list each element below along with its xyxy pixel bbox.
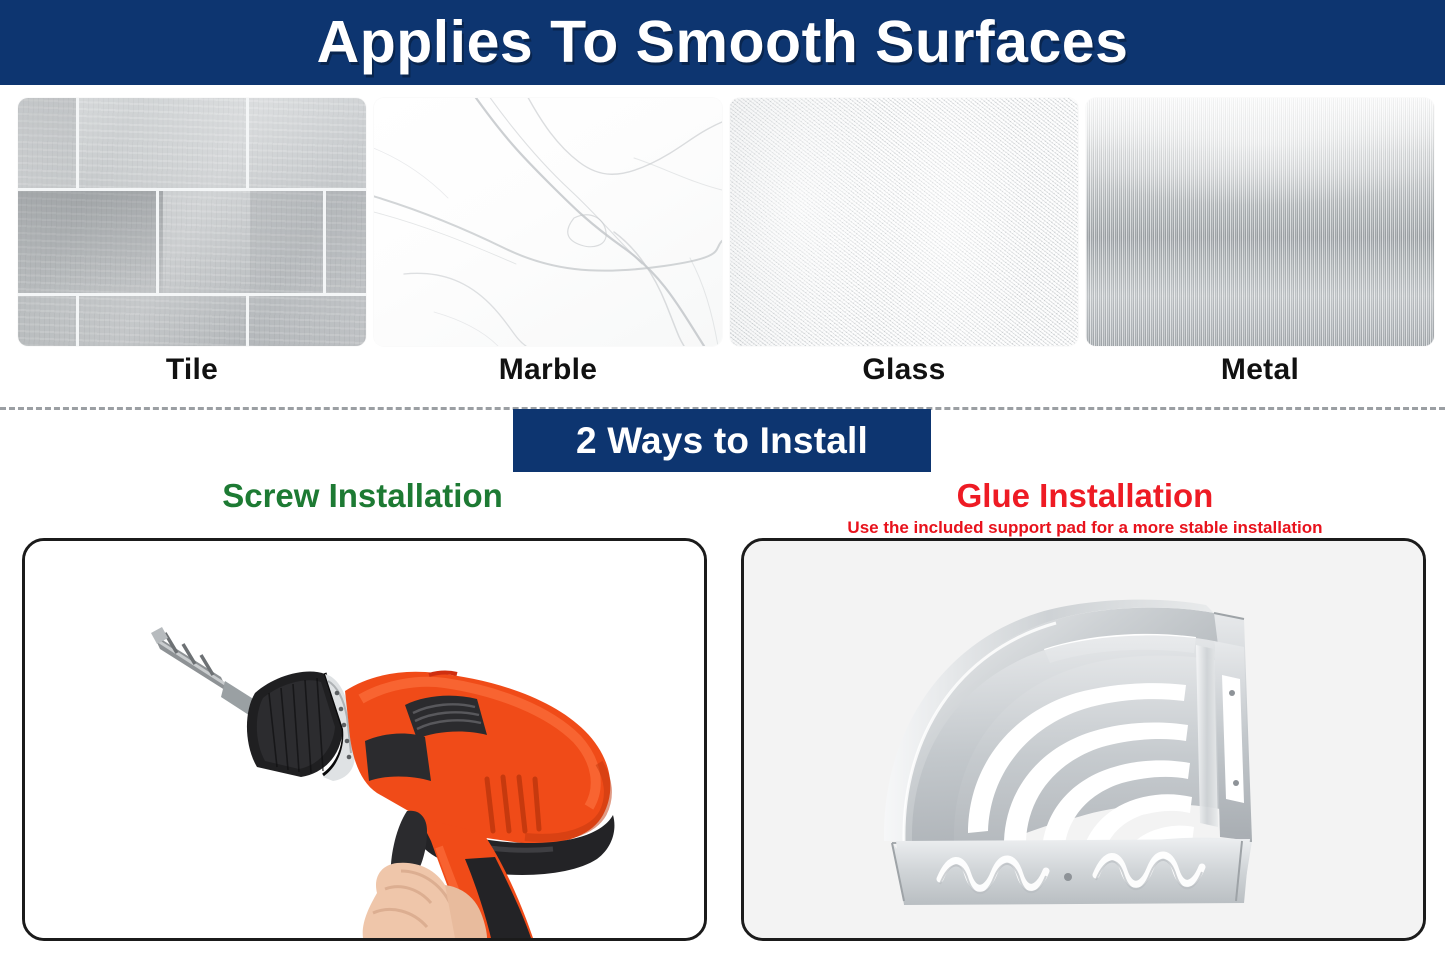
surface-label-glass: Glass — [730, 353, 1078, 387]
surface-item-marble: Marble — [374, 98, 722, 398]
screw-installation-photo-card — [22, 538, 707, 941]
surface-label-marble: Marble — [374, 353, 722, 387]
cordless-drill-in-hand-photo — [25, 541, 704, 938]
method-heading-screw: Screw Installation — [0, 478, 725, 514]
metal-texture-swatch — [1086, 98, 1434, 346]
metal-sheen-overlay — [1086, 98, 1434, 346]
glass-sheen-overlay — [730, 98, 1078, 346]
method-title-glue: Glue Installation — [725, 478, 1445, 514]
method-heading-glue: Glue Installation Use the included suppo… — [725, 478, 1445, 538]
header-banner: Applies To Smooth Surfaces — [0, 0, 1445, 85]
install-banner: 2 Ways to Install — [513, 409, 931, 472]
page-title: Applies To Smooth Surfaces — [317, 13, 1129, 72]
surface-item-tile: Tile — [18, 98, 366, 398]
glue-installation-photo-card — [741, 538, 1426, 941]
surface-item-glass: Glass — [730, 98, 1078, 398]
surface-label-tile: Tile — [18, 353, 366, 387]
install-banner-label: 2 Ways to Install — [576, 420, 868, 462]
stainless-steel-corner-shelf-photo — [744, 541, 1423, 938]
marble-vein-pattern — [374, 98, 722, 346]
tile-texture-swatch — [18, 98, 366, 346]
method-title-screw: Screw Installation — [0, 478, 725, 514]
method-subtitle-glue: Use the included support pad for a more … — [725, 518, 1445, 538]
surfaces-row: Tile Marble — [0, 98, 1445, 398]
surface-item-metal: Metal — [1086, 98, 1434, 398]
surface-label-metal: Metal — [1086, 353, 1434, 387]
glass-texture-swatch — [730, 98, 1078, 346]
marble-texture-swatch — [374, 98, 722, 346]
